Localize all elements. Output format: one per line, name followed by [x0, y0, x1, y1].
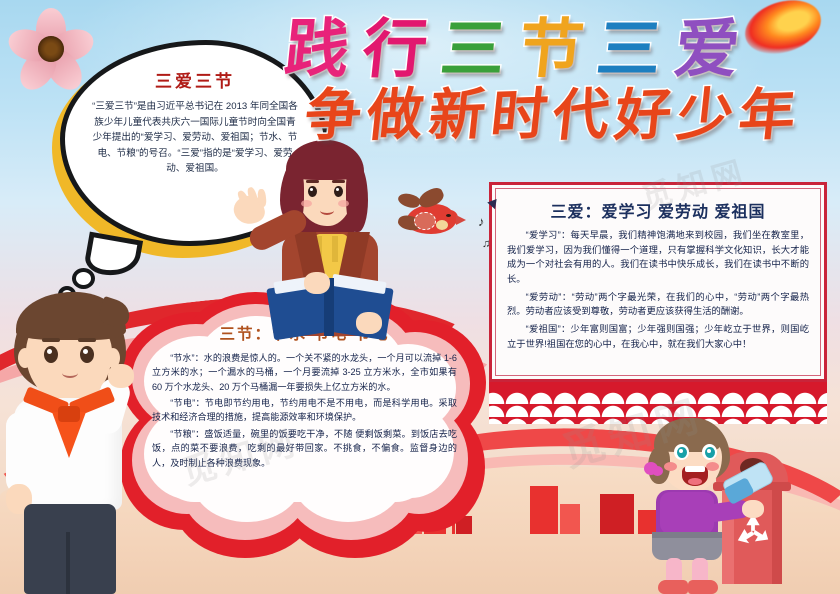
subtitle-char-7: 年 [736, 87, 798, 145]
title-char-0: 践 [282, 18, 353, 82]
subtitle-char-0: 争 [302, 87, 364, 145]
girl-figure [630, 418, 740, 594]
pink-cosmos-flower-icon [8, 6, 94, 92]
title-char-4: 三 [594, 18, 665, 82]
subtitle-char-3: 时 [488, 87, 550, 145]
right-panel-heading: 三爱：爱学习 爱劳动 爱祖国 [507, 198, 809, 222]
subtitle-char-2: 新 [426, 87, 488, 145]
right-panel-paragraph-2: “爱劳动”：“劳动”两个字最光荣，在我们的心中，“劳动”两个字最热烈。劳动者应该… [507, 290, 809, 319]
poster-canvas: 践行三节三爱 争做新时代好少年 三爱三节 “三爱三节”是由习近平总书记在 201… [0, 0, 840, 594]
right-panel-paragraph-3: “爱祖国”：少年富则国富；少年强则国强；少年屹立于世界，则国屹立于世界!祖国在您… [507, 322, 809, 351]
boy-figure [0, 286, 140, 594]
music-note-2: ♫ [482, 238, 490, 250]
red-bird-icon [398, 190, 474, 248]
music-note-1: ♪ [478, 214, 485, 229]
subtitle-char-6: 少 [674, 87, 736, 145]
bubble-title: 三爱三节 [91, 67, 299, 92]
left-panel-paragraph-3: “节粮”：盛饭适量，碗里的饭要吃干净，不随 便剩饭剩菜。到饭店去吃饭，点的菜不要… [152, 427, 457, 470]
left-panel-paragraph-2: “节电”：节电即节约用电，节约用电不是不用电，而是科学用电。采取技术和经济合理的… [152, 396, 457, 425]
title-char-2: 三 [438, 18, 509, 82]
left-panel-paragraph-1: “节水”：水的浪费是惊人的。一个关不紧的水龙头，一个月可以流掉 1-6 立方米的… [152, 351, 457, 394]
subtitle-char-4: 代 [550, 87, 612, 145]
left-content-panel: 三节：节水 节电 节电 “节水”：水的浪费是惊人的。一个关不紧的水龙头，一个月可… [152, 322, 457, 534]
subtitle-char-5: 好 [612, 87, 674, 145]
right-panel-paragraph-1: “爱学习”：每天早晨，我们精神饱满地来到校园，我们坐在教室里，我们爱学习，因为我… [507, 228, 809, 287]
right-content-panel: 三爱：爱学习 爱劳动 爱祖国 “爱学习”：每天早晨，我们精神饱满地来到校园，我们… [489, 182, 827, 382]
right-panel-inner-frame: 三爱：爱学习 爱劳动 爱祖国 “爱学习”：每天早晨，我们精神饱满地来到校园，我们… [495, 188, 821, 376]
title-line-2: 争做新时代好少年 [305, 88, 840, 168]
title-char-5: 爱 [672, 18, 743, 82]
subtitle-char-1: 做 [364, 87, 426, 145]
title-char-3: 节 [516, 18, 587, 82]
title-char-1: 行 [360, 18, 431, 82]
poster-title: 践行三节三爱 争做新时代好少年 [285, 18, 830, 178]
